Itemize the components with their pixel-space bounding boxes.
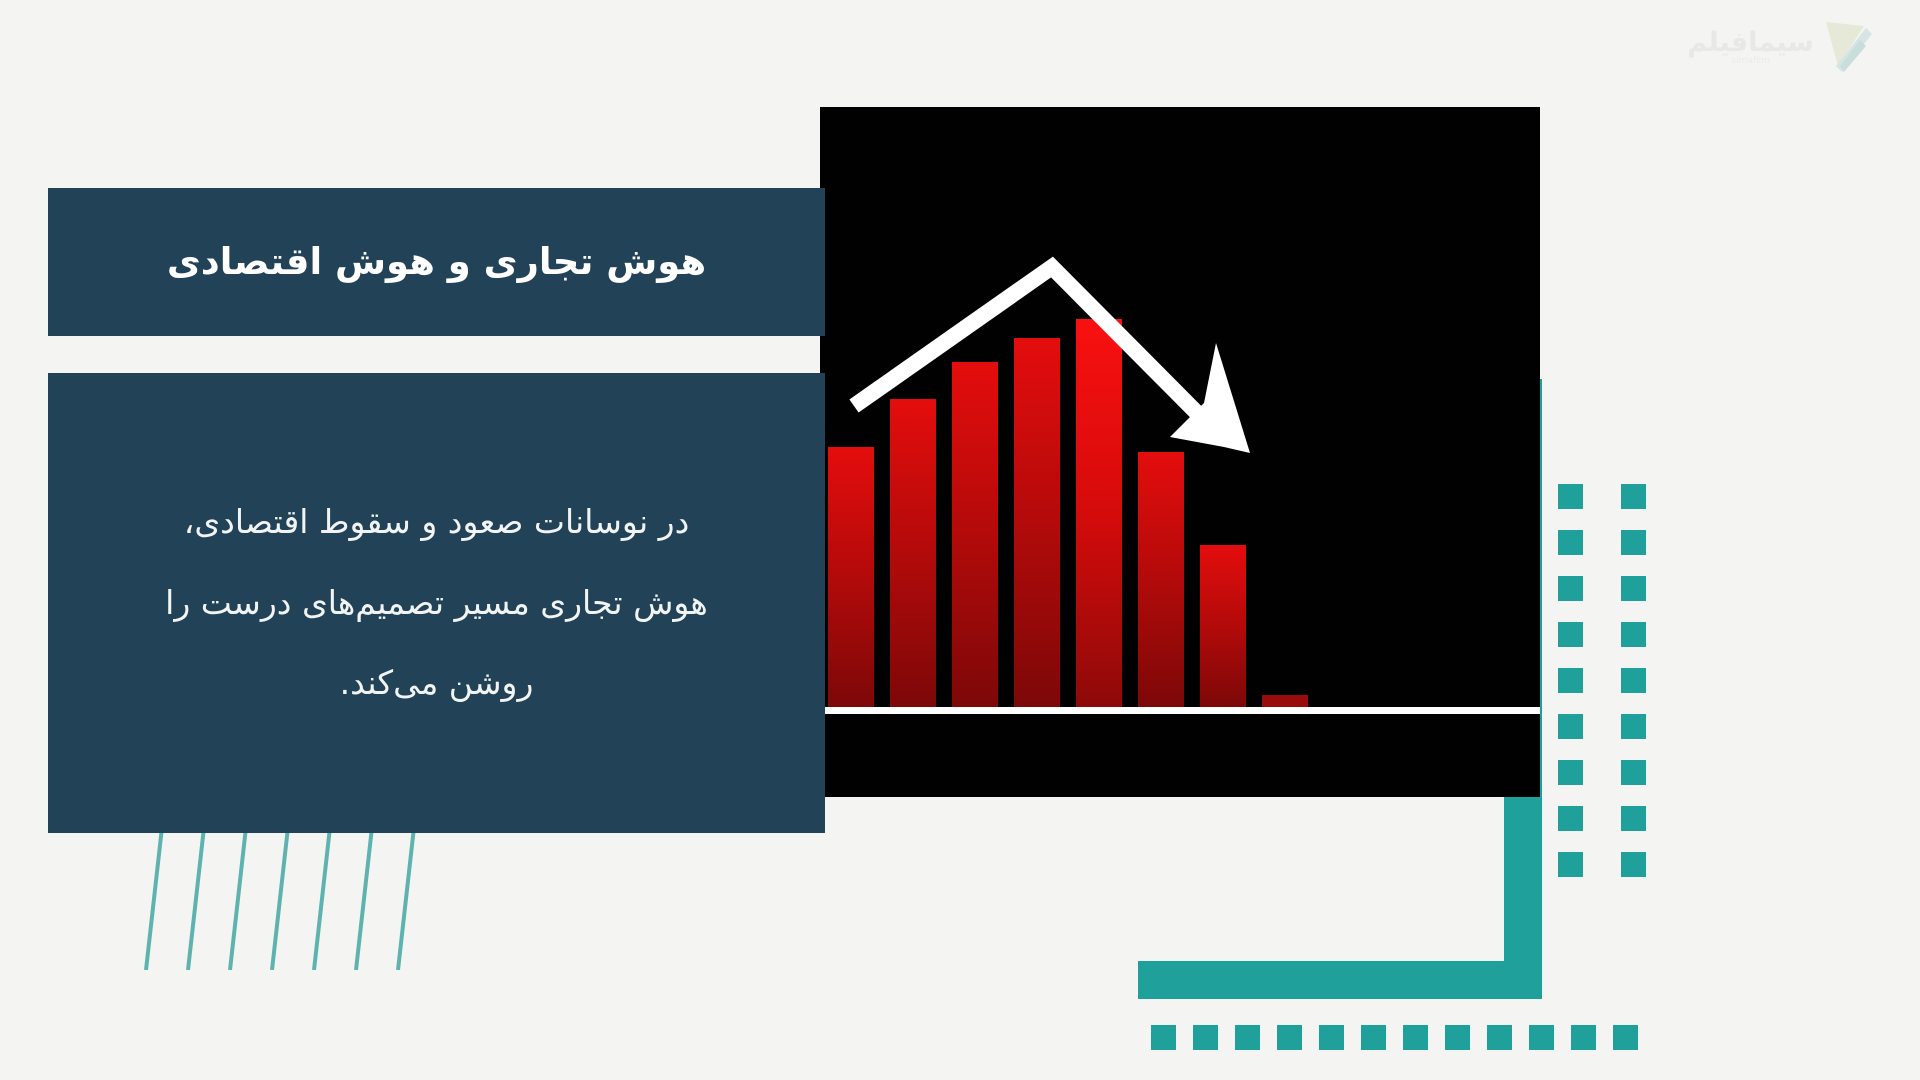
decorative-dot [1621, 530, 1646, 555]
decorative-dot [1361, 1025, 1386, 1050]
bar-chart-image [820, 107, 1540, 797]
decorative-dot [1558, 668, 1583, 693]
bar-2 [890, 399, 936, 707]
watermark-textblock: سیمافیلم simafilm [1687, 29, 1814, 66]
bar-5 [1076, 319, 1122, 707]
bar-6 [1138, 452, 1184, 707]
decorative-dot [1621, 668, 1646, 693]
bar-chart-svg [820, 107, 1540, 797]
image-composition [820, 80, 1880, 1010]
decorative-dot [1621, 852, 1646, 877]
decorative-dot [1621, 622, 1646, 647]
decorative-dot [1613, 1025, 1638, 1050]
dot-grid-bottom [1151, 1025, 1655, 1050]
decorative-dot [1558, 530, 1583, 555]
decorative-dot [1558, 760, 1583, 785]
slide-canvas: سیمافیلم simafilm هوش تجاری و هوش اقتصاد… [0, 0, 1920, 1080]
triangle-play-logo-icon [1820, 20, 1872, 74]
decorative-dot [1558, 714, 1583, 739]
decorative-dot [1403, 1025, 1428, 1050]
decorative-dot [1235, 1025, 1260, 1050]
teal-frame-horizontal [1138, 961, 1542, 999]
decorative-dot [1621, 760, 1646, 785]
brand-watermark: سیمافیلم simafilm [1697, 14, 1872, 80]
decorative-dot [1558, 576, 1583, 601]
body-line-2: هوش تجاری مسیر تصمیم‌های درست را [104, 563, 769, 644]
decorative-dot [1571, 1025, 1596, 1050]
bar-1 [828, 447, 874, 707]
decorative-dot [1621, 576, 1646, 601]
watermark-brand-text: سیمافیلم [1687, 29, 1814, 56]
bar-4 [1014, 338, 1060, 707]
decorative-dot [1621, 484, 1646, 509]
decorative-dot [1558, 622, 1583, 647]
decorative-dot [1621, 714, 1646, 739]
title-card: هوش تجاری و هوش اقتصادی [48, 188, 825, 336]
chart-baseline [820, 707, 1540, 714]
decorative-dot [1558, 806, 1583, 831]
body-line-1: در نوسانات صعود و سقوط اقتصادی، [104, 482, 769, 563]
body-paragraph: در نوسانات صعود و سقوط اقتصادی، هوش تجار… [104, 482, 769, 725]
decorative-dot [1558, 484, 1583, 509]
decorative-dot [1445, 1025, 1470, 1050]
decorative-dot [1621, 806, 1646, 831]
decorative-dot [1529, 1025, 1554, 1050]
body-line-3: روشن می‌کند. [104, 643, 769, 724]
decorative-dot [1319, 1025, 1344, 1050]
bar-7 [1200, 545, 1246, 707]
decorative-dot [1487, 1025, 1512, 1050]
page-title: هوش تجاری و هوش اقتصادی [104, 237, 769, 287]
bar-3 [952, 362, 998, 707]
dot-grid-right [1558, 484, 1655, 898]
decorative-dot [1193, 1025, 1218, 1050]
chart-plinth [820, 714, 1540, 797]
decorative-dot [1151, 1025, 1176, 1050]
decorative-dot [1277, 1025, 1302, 1050]
decorative-dot [1558, 852, 1583, 877]
bar-8 [1262, 695, 1308, 707]
body-card: در نوسانات صعود و سقوط اقتصادی، هوش تجار… [48, 373, 825, 833]
